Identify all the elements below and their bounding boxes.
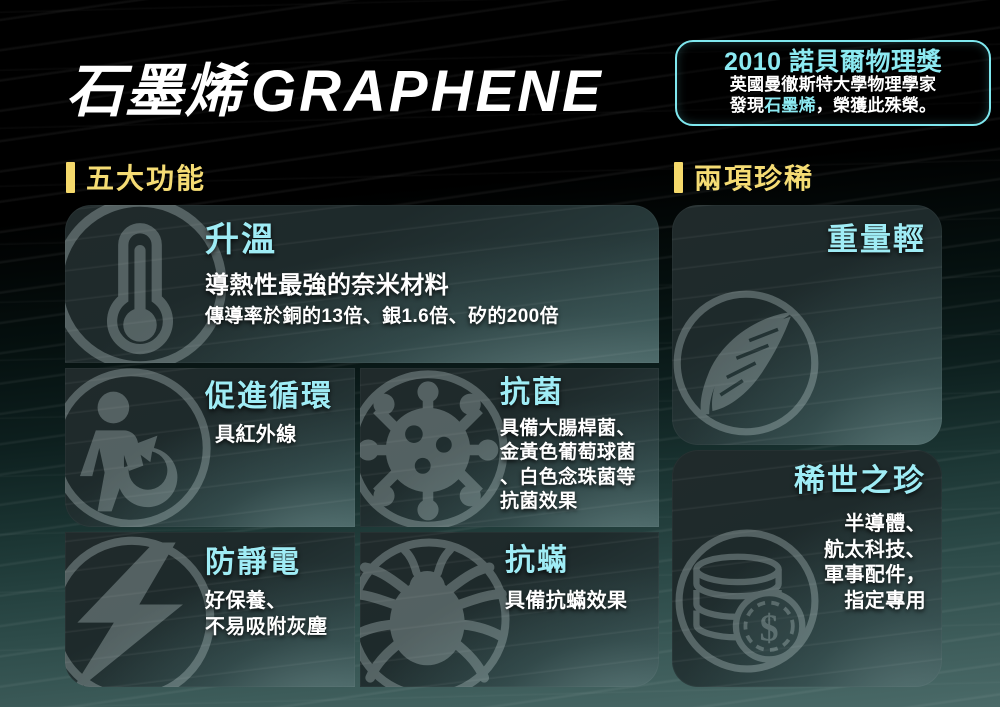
rarities-grid: 重量輕 $ [672,205,942,687]
section-heading-features: 五大功能 [66,157,206,197]
rarity-card-rare-treasure-title: 稀世之珍 [794,464,926,498]
virus-blocked-icon [360,368,516,527]
feature-card-antistatic-text: 防靜電 好保養、 不易吸附灰塵 [205,546,327,640]
feature-card-heat-body-line-2: 傳導率於銅的13倍、銀1.6倍、矽的200倍 [205,305,559,329]
section-heading-features-label: 五大功能 [86,157,206,197]
badge-line-1: 英國曼徹斯特大學物理學家 [730,75,936,96]
rarity-card-rare-treasure-text: 稀世之珍 半導體、 航太科技、 軍事配件， 指定專用 [794,464,926,614]
feature-card-antistatic-body-line-2: 不易吸附灰塵 [205,615,327,641]
feature-card-antistatic[interactable]: 防靜電 好保養、 不易吸附灰塵 [65,532,355,687]
feature-card-circulation-text: 促進循環 具紅外線 [205,380,333,449]
badge-line-2-highlight: 石墨烯 [764,96,816,115]
feature-card-antimite[interactable]: 抗蟎 具備抗蟎效果 [360,532,659,687]
heading-accent-bar [674,162,683,193]
feature-card-antimite-body-line-1: 具備抗蟎效果 [505,589,627,615]
lightning-bolt-icon [65,532,223,687]
feature-card-antibacterial-body-line-1: 具備大腸桿菌、 [500,417,636,441]
badge-title: 2010 諾貝爾物理獎 [724,49,942,75]
svg-text:$: $ [760,608,779,650]
person-circulation-icon [65,368,219,527]
badge-line-2: 發現石墨烯，榮獲此殊榮。 [730,96,936,117]
feature-card-antibacterial[interactable]: 抗菌 具備大腸桿菌、 金黃色葡萄球菌 、白色念珠菌等 抗菌效果 [360,368,659,527]
rarity-card-rare-treasure-body-line-2: 航太科技、 [794,538,926,564]
rarity-card-rare-treasure-body-line-4: 指定專用 [794,589,926,615]
rarity-card-lightweight-text: 重量輕 [827,223,926,257]
badge-line-2-prefix: 發現 [730,96,764,115]
features-grid: 升溫 導熱性最強的奈米材料 傳導率於銅的13倍、銀1.6倍、矽的200倍 促進循… [65,205,659,687]
rarity-card-rare-treasure-body-line-1: 半導體、 [794,512,926,538]
rarity-card-rare-treasure-body-line-3: 軍事配件， [794,563,926,589]
infographic-poster: 石墨烯GRAPHENE 2010 諾貝爾物理獎 英國曼徹斯特大學物理學家 發現石… [0,0,1000,707]
feather-icon [672,283,826,443]
feature-card-antistatic-body-line-1: 好保養、 [205,589,327,615]
feature-card-heat-text: 升溫 導熱性最強的奈米材料 傳導率於銅的13倍、銀1.6倍、矽的200倍 [205,222,559,329]
rarity-card-lightweight-title: 重量輕 [827,223,926,257]
feature-card-antibacterial-text: 抗菌 具備大腸桿菌、 金黃色葡萄球菌 、白色念珠菌等 抗菌效果 [500,376,636,514]
nobel-prize-badge: 2010 諾貝爾物理獎 英國曼徹斯特大學物理學家 發現石墨烯，榮獲此殊榮。 [675,40,991,126]
feature-card-heat-body-line-1: 導熱性最強的奈米材料 [205,271,559,302]
title-chinese: 石墨烯 [66,59,243,124]
feature-card-antibacterial-title: 抗菌 [500,376,636,409]
feature-card-antibacterial-body-line-2: 金黃色葡萄球菌 [500,441,636,465]
title-english: GRAPHENE [251,59,604,124]
feature-card-circulation-title: 促進循環 [205,380,333,413]
feature-card-heat[interactable]: 升溫 導熱性最強的奈米材料 傳導率於銅的13倍、銀1.6倍、矽的200倍 [65,205,659,363]
feature-card-circulation[interactable]: 促進循環 具紅外線 [65,368,355,527]
rarity-card-lightweight[interactable]: 重量輕 [672,205,942,445]
feature-card-antistatic-title: 防靜電 [205,546,327,579]
badge-line-2-suffix: ，榮獲此殊榮。 [816,96,936,115]
section-heading-rarities-label: 兩項珍稀 [694,157,814,197]
mite-blocked-icon [360,532,518,687]
heading-accent-bar [66,162,75,193]
feature-card-antimite-title: 抗蟎 [505,544,627,577]
feature-card-antibacterial-body-line-4: 抗菌效果 [500,490,636,514]
page-title: 石墨烯GRAPHENE [66,44,604,128]
feature-card-antibacterial-body-line-3: 、白色念珠菌等 [500,466,636,490]
rarity-card-rare-treasure[interactable]: $ 稀世之珍 半導體、 航太科技、 軍事配件， 指定專用 [672,450,942,687]
feature-card-circulation-body-line-1: 具紅外線 [215,423,333,449]
feature-card-antimite-text: 抗蟎 具備抗蟎效果 [505,544,627,615]
section-heading-rarities: 兩項珍稀 [674,157,814,197]
feature-card-heat-title: 升溫 [205,222,559,259]
